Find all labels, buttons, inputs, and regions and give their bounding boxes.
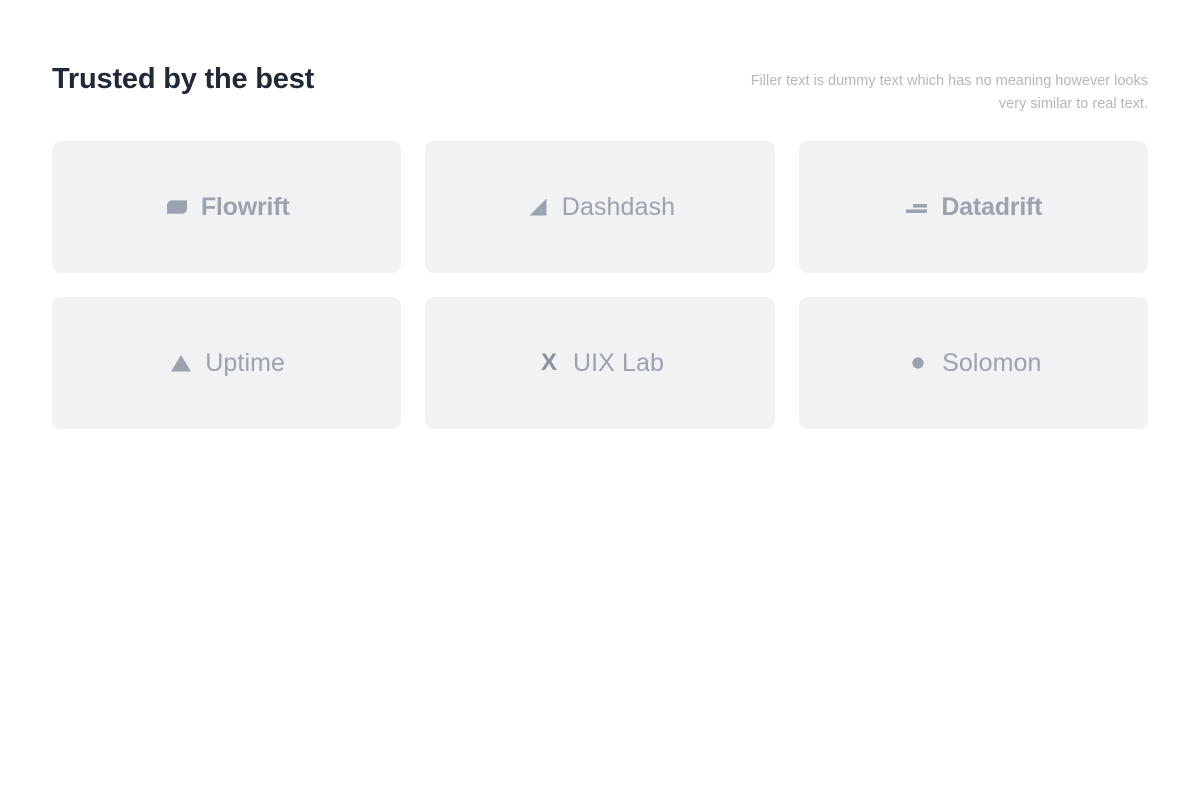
logo-lockup: Datadrift [904, 194, 1042, 220]
logo-name: Dashdash [562, 195, 675, 220]
logo-lockup: X UIX Lab [536, 350, 664, 376]
logo-card-datadrift[interactable]: Datadrift [799, 141, 1148, 273]
logo-card-uix-lab[interactable]: X UIX Lab [425, 297, 774, 429]
logo-lockup: Dashdash [525, 194, 675, 220]
page-title: Trusted by the best [52, 62, 314, 97]
logo-name: Flowrift [201, 195, 290, 220]
logo-name: UIX Lab [573, 351, 664, 376]
trusted-by-section: Trusted by the best Filler text is dummy… [0, 0, 1200, 800]
section-subtitle: Filler text is dummy text which has no m… [748, 62, 1148, 116]
logo-name: Uptime [205, 351, 285, 376]
right-triangle-icon [525, 194, 551, 220]
hexagon-slab-icon [164, 194, 190, 220]
logo-lockup: Flowrift [164, 194, 290, 220]
section-header: Trusted by the best Filler text is dummy… [52, 0, 1148, 116]
logo-card-solomon[interactable]: Solomon [799, 297, 1148, 429]
letter-x-icon: X [536, 350, 562, 376]
dot-icon [905, 350, 931, 376]
logo-name: Solomon [942, 351, 1041, 376]
logo-lockup: Solomon [905, 350, 1041, 376]
logo-card-dashdash[interactable]: Dashdash [425, 141, 774, 273]
logo-lockup: Uptime [168, 350, 285, 376]
logo-card-uptime[interactable]: Uptime [52, 297, 401, 429]
logo-name: Datadrift [941, 195, 1042, 220]
double-bar-icon [904, 194, 930, 220]
triangle-up-icon [168, 350, 194, 376]
logo-grid: Flowrift Dashdash [52, 141, 1148, 429]
logo-card-flowrift[interactable]: Flowrift [52, 141, 401, 273]
